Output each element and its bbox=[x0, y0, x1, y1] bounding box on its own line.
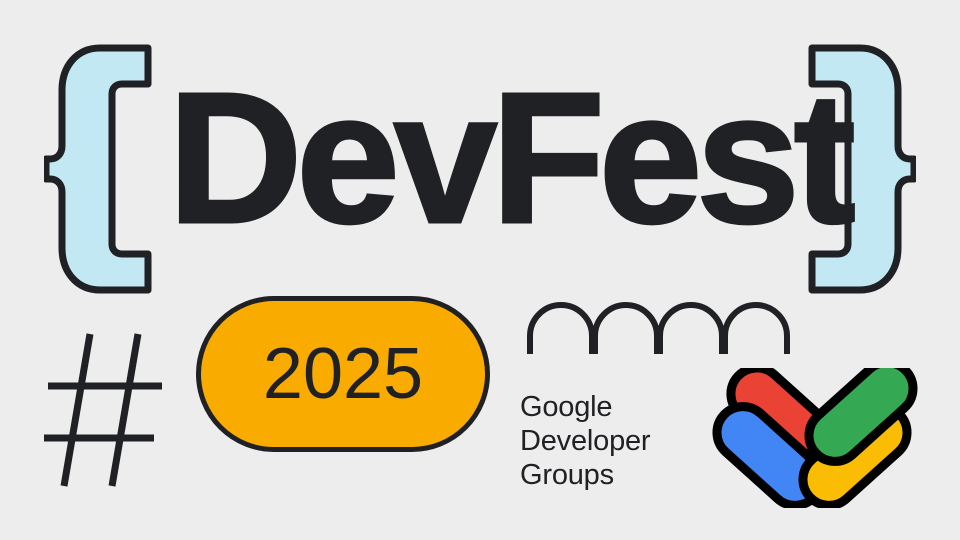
gdg-wordmark-line-3: Groups bbox=[520, 458, 650, 492]
curly-brace-open-icon bbox=[44, 42, 160, 301]
gdg-wordmark: Google Developer Groups bbox=[520, 390, 650, 492]
page-title: DevFest bbox=[168, 74, 808, 244]
devfest-poster: DevFest 2025 Google D bbox=[0, 0, 960, 540]
gdg-wordmark-line-1: Google bbox=[520, 390, 650, 424]
arch-wave-icon bbox=[524, 296, 794, 363]
year-badge-label: 2025 bbox=[263, 338, 423, 410]
gdg-wordmark-line-2: Developer bbox=[520, 424, 650, 458]
year-badge[interactable]: 2025 bbox=[196, 296, 490, 452]
gdg-logo-icon bbox=[702, 368, 920, 513]
hash-symbol-icon bbox=[44, 330, 170, 495]
gdg-lockup: Google Developer Groups bbox=[520, 380, 920, 510]
